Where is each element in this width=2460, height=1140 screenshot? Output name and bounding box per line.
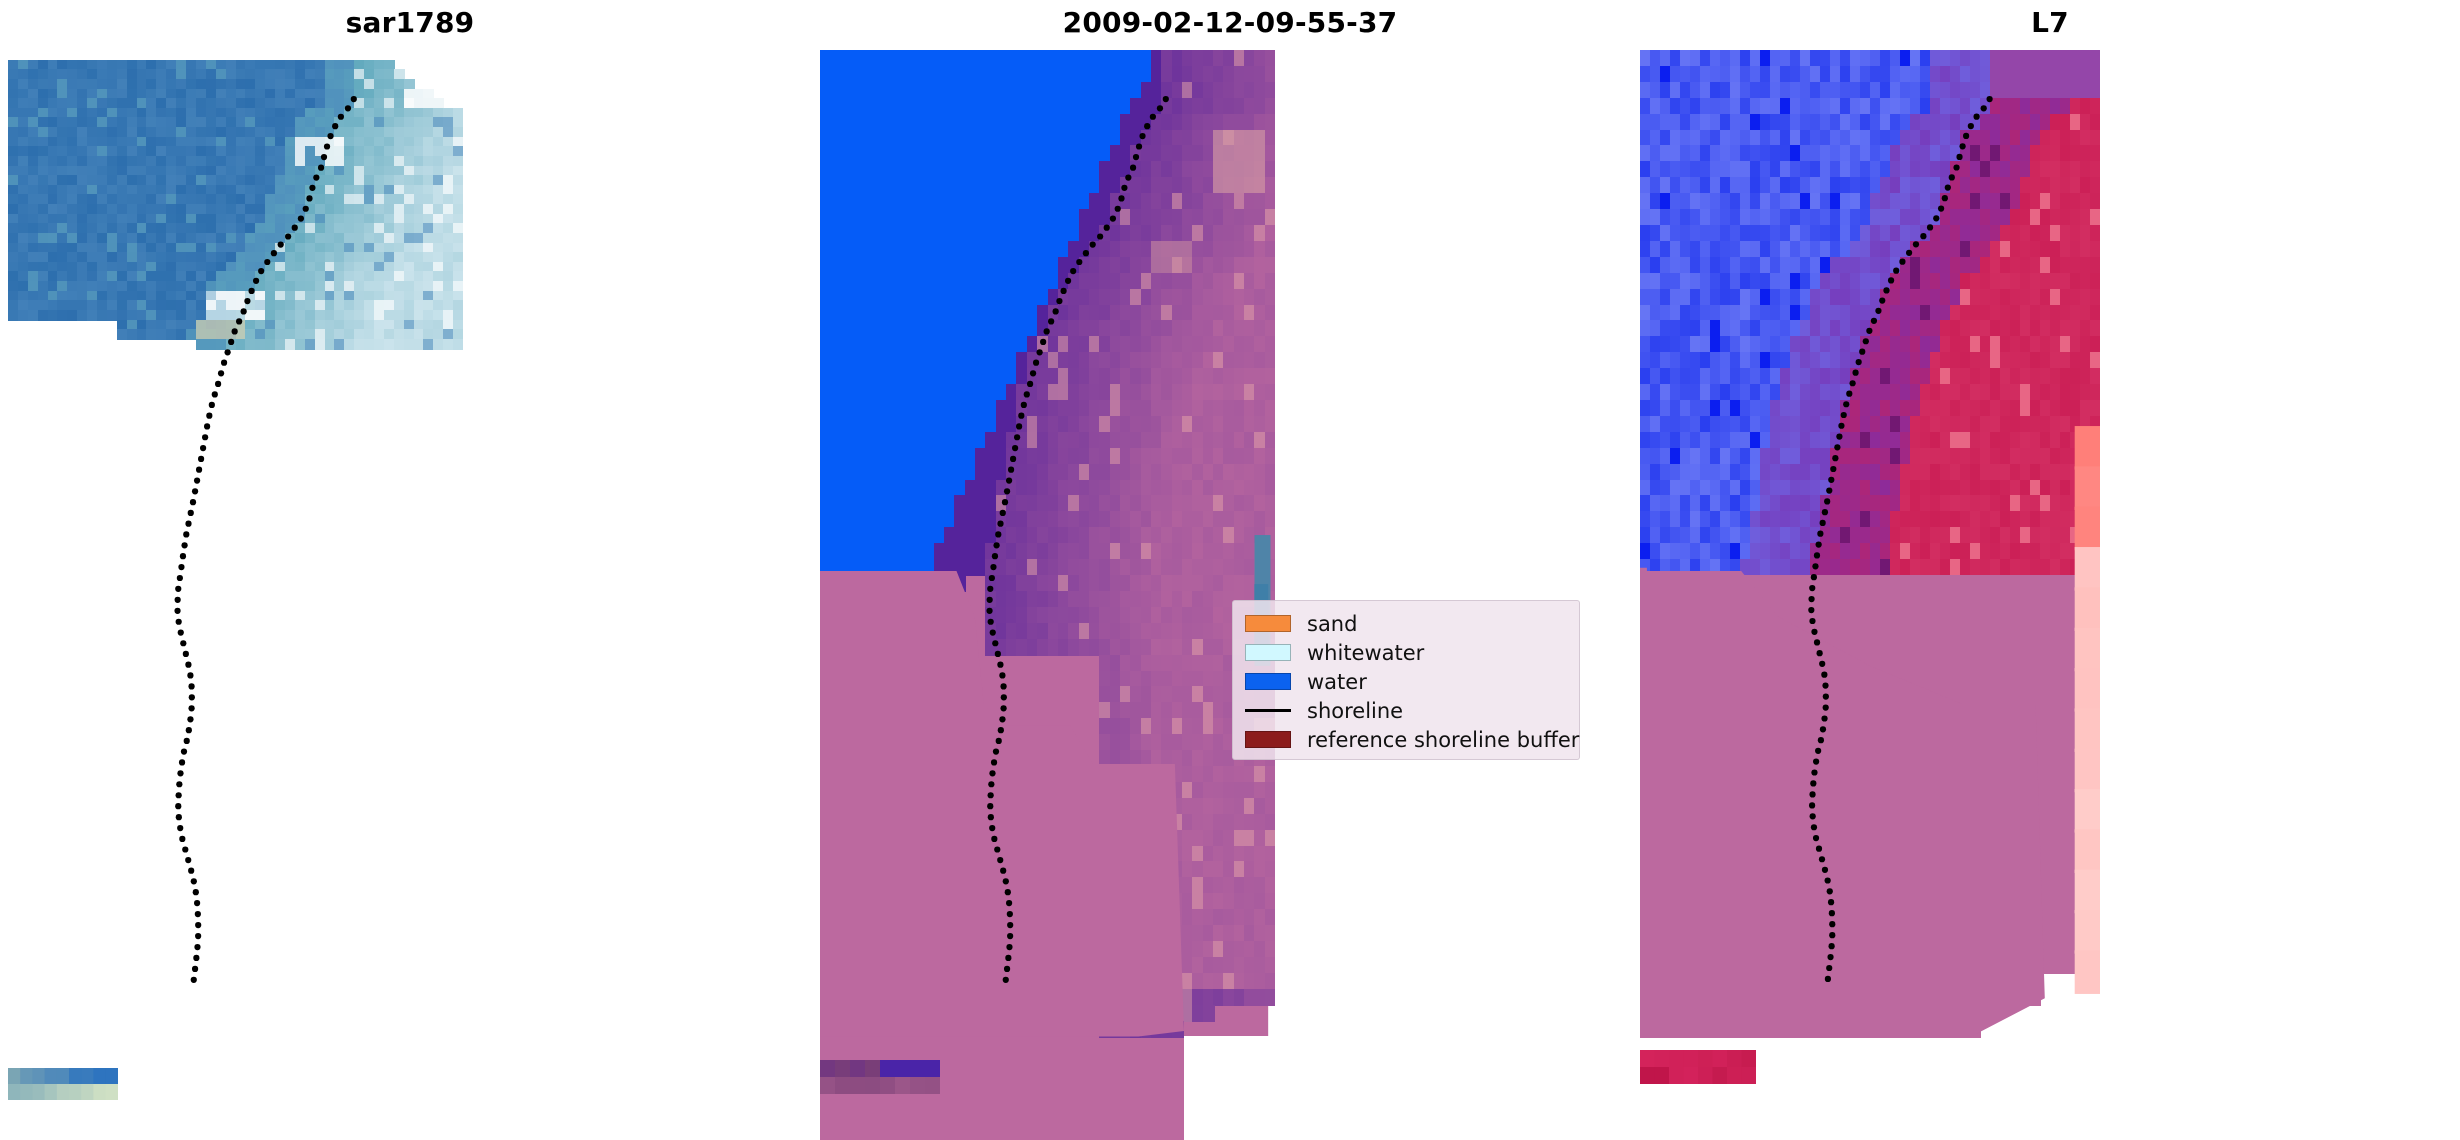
legend-item-water: water <box>1245 667 1569 696</box>
panel-title-0: sar1789 <box>0 6 820 40</box>
legend-swatch-reference-buffer <box>1245 731 1291 748</box>
colorbar-strip-classified <box>820 1060 940 1094</box>
legend-swatch-shoreline <box>1245 709 1291 712</box>
legend-item-reference-buffer: reference shoreline buffer <box>1245 725 1569 754</box>
legend-box[interactable]: sand whitewater water shoreline referenc… <box>1232 600 1580 760</box>
panel-title-1: 2009-02-12-09-55-37 <box>820 6 1640 40</box>
panel-classified: 2009-02-12-09-55-37 <box>820 0 1640 1140</box>
panel-l7: L7 <box>1640 0 2460 1140</box>
shoreline-overlay-l7 <box>1640 50 2100 1140</box>
legend-label-sand: sand <box>1307 613 1357 635</box>
panel-image-1[interactable] <box>820 50 1640 1140</box>
legend-item-whitewater: whitewater <box>1245 638 1569 667</box>
shoreline-overlay-sar <box>8 50 463 1140</box>
legend-label-water: water <box>1307 671 1367 693</box>
legend-swatch-sand <box>1245 615 1291 632</box>
legend-item-shoreline: shoreline <box>1245 696 1569 725</box>
legend-swatch-whitewater <box>1245 644 1291 661</box>
panel-image-0[interactable] <box>0 50 820 1140</box>
panel-image-2[interactable] <box>1640 50 2460 1140</box>
panel-sar1789: sar1789 <box>0 0 820 1140</box>
panel-title-2: L7 <box>1640 6 2460 40</box>
colorbar-strip-l7 <box>1640 1050 1756 1084</box>
figure-root: sar1789 2009-02-12-09-55-37 L7 sand <box>0 0 2460 1140</box>
legend-swatch-water <box>1245 673 1291 690</box>
colorbar-strip-sar <box>8 1068 118 1100</box>
legend-label-shoreline: shoreline <box>1307 700 1403 722</box>
legend-item-sand: sand <box>1245 609 1569 638</box>
legend-label-whitewater: whitewater <box>1307 642 1424 664</box>
legend-label-reference-buffer: reference shoreline buffer <box>1307 729 1579 751</box>
shoreline-overlay-classified <box>820 50 1275 1140</box>
